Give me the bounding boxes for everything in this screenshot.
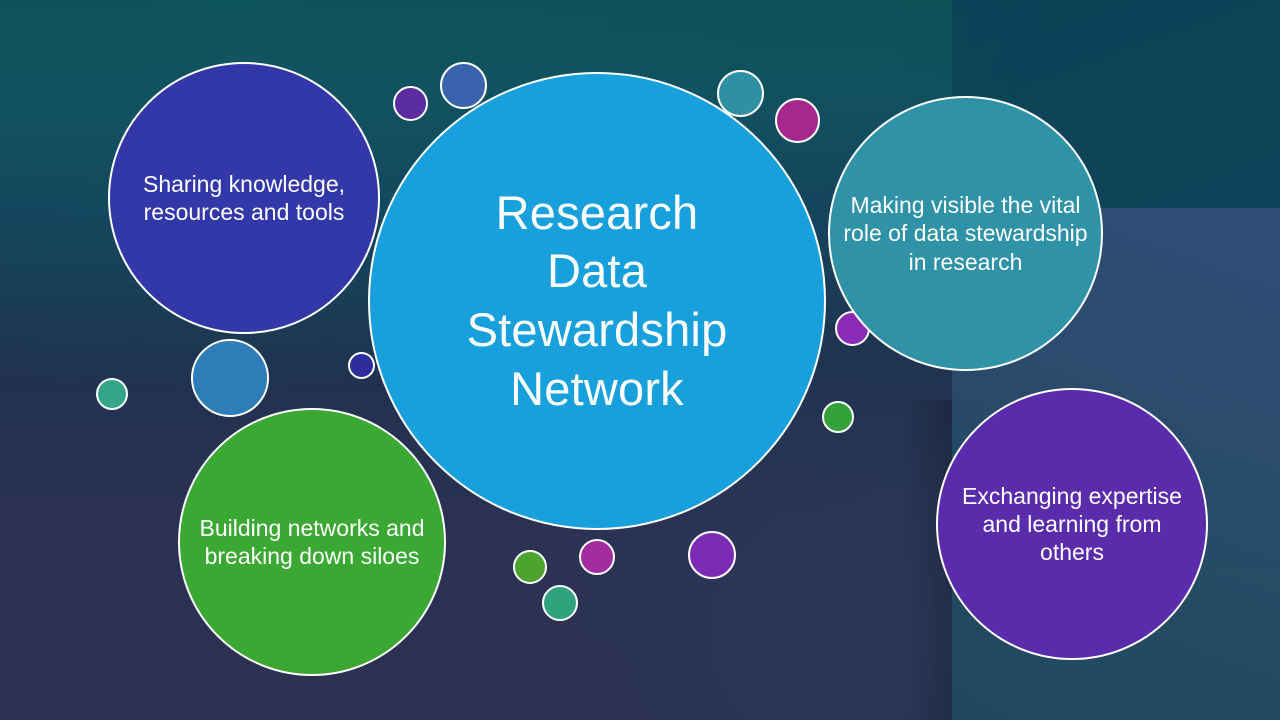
dot-indigo-left bbox=[348, 352, 375, 379]
dot-purple-top bbox=[393, 86, 428, 121]
center-line-4: Network bbox=[510, 362, 684, 415]
dot-magenta-topright bbox=[775, 98, 820, 143]
bubble-building-networks[interactable]: Building networks and breaking down silo… bbox=[178, 408, 446, 676]
dot-steelblue-left bbox=[191, 339, 269, 417]
bubble-sharing-label: Sharing knowledge, resources and tools bbox=[110, 170, 378, 226]
dot-green-left bbox=[96, 378, 128, 410]
dot-magenta-bottom bbox=[579, 539, 615, 575]
bubble-exchanging-expertise[interactable]: Exchanging expertise and learning from o… bbox=[936, 388, 1208, 660]
bubble-sharing-knowledge[interactable]: Sharing knowledge, resources and tools bbox=[108, 62, 380, 334]
bubble-exchanging-expertise-label: Exchanging expertise and learning from o… bbox=[938, 482, 1206, 566]
dot-green-bottom bbox=[513, 550, 547, 584]
dot-green-right bbox=[822, 401, 854, 433]
center-line-2: Data bbox=[547, 244, 647, 297]
dot-purple-bottom bbox=[688, 531, 736, 579]
bubble-center-label: Research Data Stewardship Network bbox=[457, 184, 738, 419]
center-line-1: Research bbox=[496, 186, 699, 239]
bubble-making-visible-label: Making visible the vital role of data st… bbox=[830, 191, 1101, 275]
center-line-3: Stewardship bbox=[467, 303, 728, 356]
dot-blue-top bbox=[440, 62, 487, 109]
slide-canvas: Sharing knowledge, resources and tools M… bbox=[0, 0, 1280, 720]
bubble-center-research-data-stewardship-network[interactable]: Research Data Stewardship Network bbox=[368, 72, 826, 530]
bubble-making-visible[interactable]: Making visible the vital role of data st… bbox=[828, 96, 1103, 371]
bubble-building-networks-label: Building networks and breaking down silo… bbox=[180, 514, 444, 570]
dot-teal-bottom bbox=[542, 585, 578, 621]
